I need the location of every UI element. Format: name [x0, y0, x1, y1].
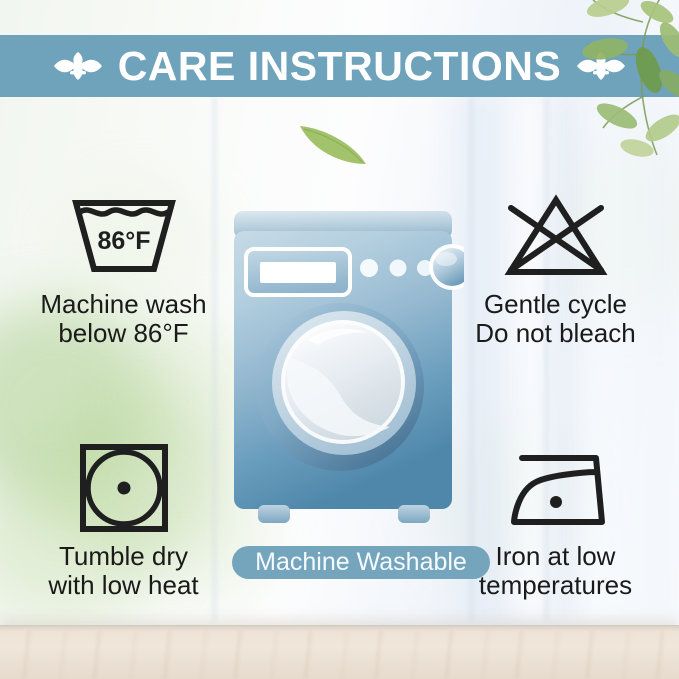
care-symbol-caption-line1: Gentle cycle	[448, 290, 663, 319]
header-banner: CARE INSTRUCTIONS	[0, 35, 679, 97]
care-symbol-caption-line2: below 86°F	[16, 319, 231, 348]
control-dial-highlight	[435, 252, 457, 266]
care-symbol-caption-line1: Tumble dry	[16, 542, 231, 571]
washing-machine-illustration	[222, 205, 464, 535]
fleur-de-lis-icon	[52, 46, 104, 86]
machine-washable-badge: Machine Washable	[232, 546, 490, 579]
care-symbol-caption-line1: Machine wash	[16, 290, 231, 319]
fleur-de-lis-icon	[575, 46, 627, 86]
tumble-dry-low-heat-icon	[16, 440, 231, 536]
control-dot	[360, 259, 378, 277]
iron-low-temperature-icon	[448, 440, 663, 536]
badge-label: Machine Washable	[255, 550, 467, 575]
machine-foot	[398, 505, 430, 523]
do-not-bleach-triangle-icon	[448, 188, 663, 284]
care-symbol-do-not-bleach: Gentle cycle Do not bleach	[448, 188, 663, 348]
control-dot	[390, 260, 407, 277]
wash-temperature-value: 86°F	[97, 227, 150, 255]
care-symbol-caption-line2: Do not bleach	[448, 319, 663, 348]
care-symbol-caption-line2: with low heat	[16, 571, 231, 600]
wash-tub-icon: 86°F	[16, 188, 231, 284]
wood-grain-texture	[0, 631, 679, 679]
display-screen	[260, 262, 336, 283]
page-title: CARE INSTRUCTIONS	[118, 46, 562, 87]
care-symbol-machine-wash: 86°F Machine wash below 86°F	[16, 188, 231, 348]
machine-foot	[258, 505, 290, 523]
care-symbol-tumble-dry: Tumble dry with low heat	[16, 440, 231, 600]
care-instructions-infographic: CARE INSTRUCTIONS	[0, 0, 679, 679]
